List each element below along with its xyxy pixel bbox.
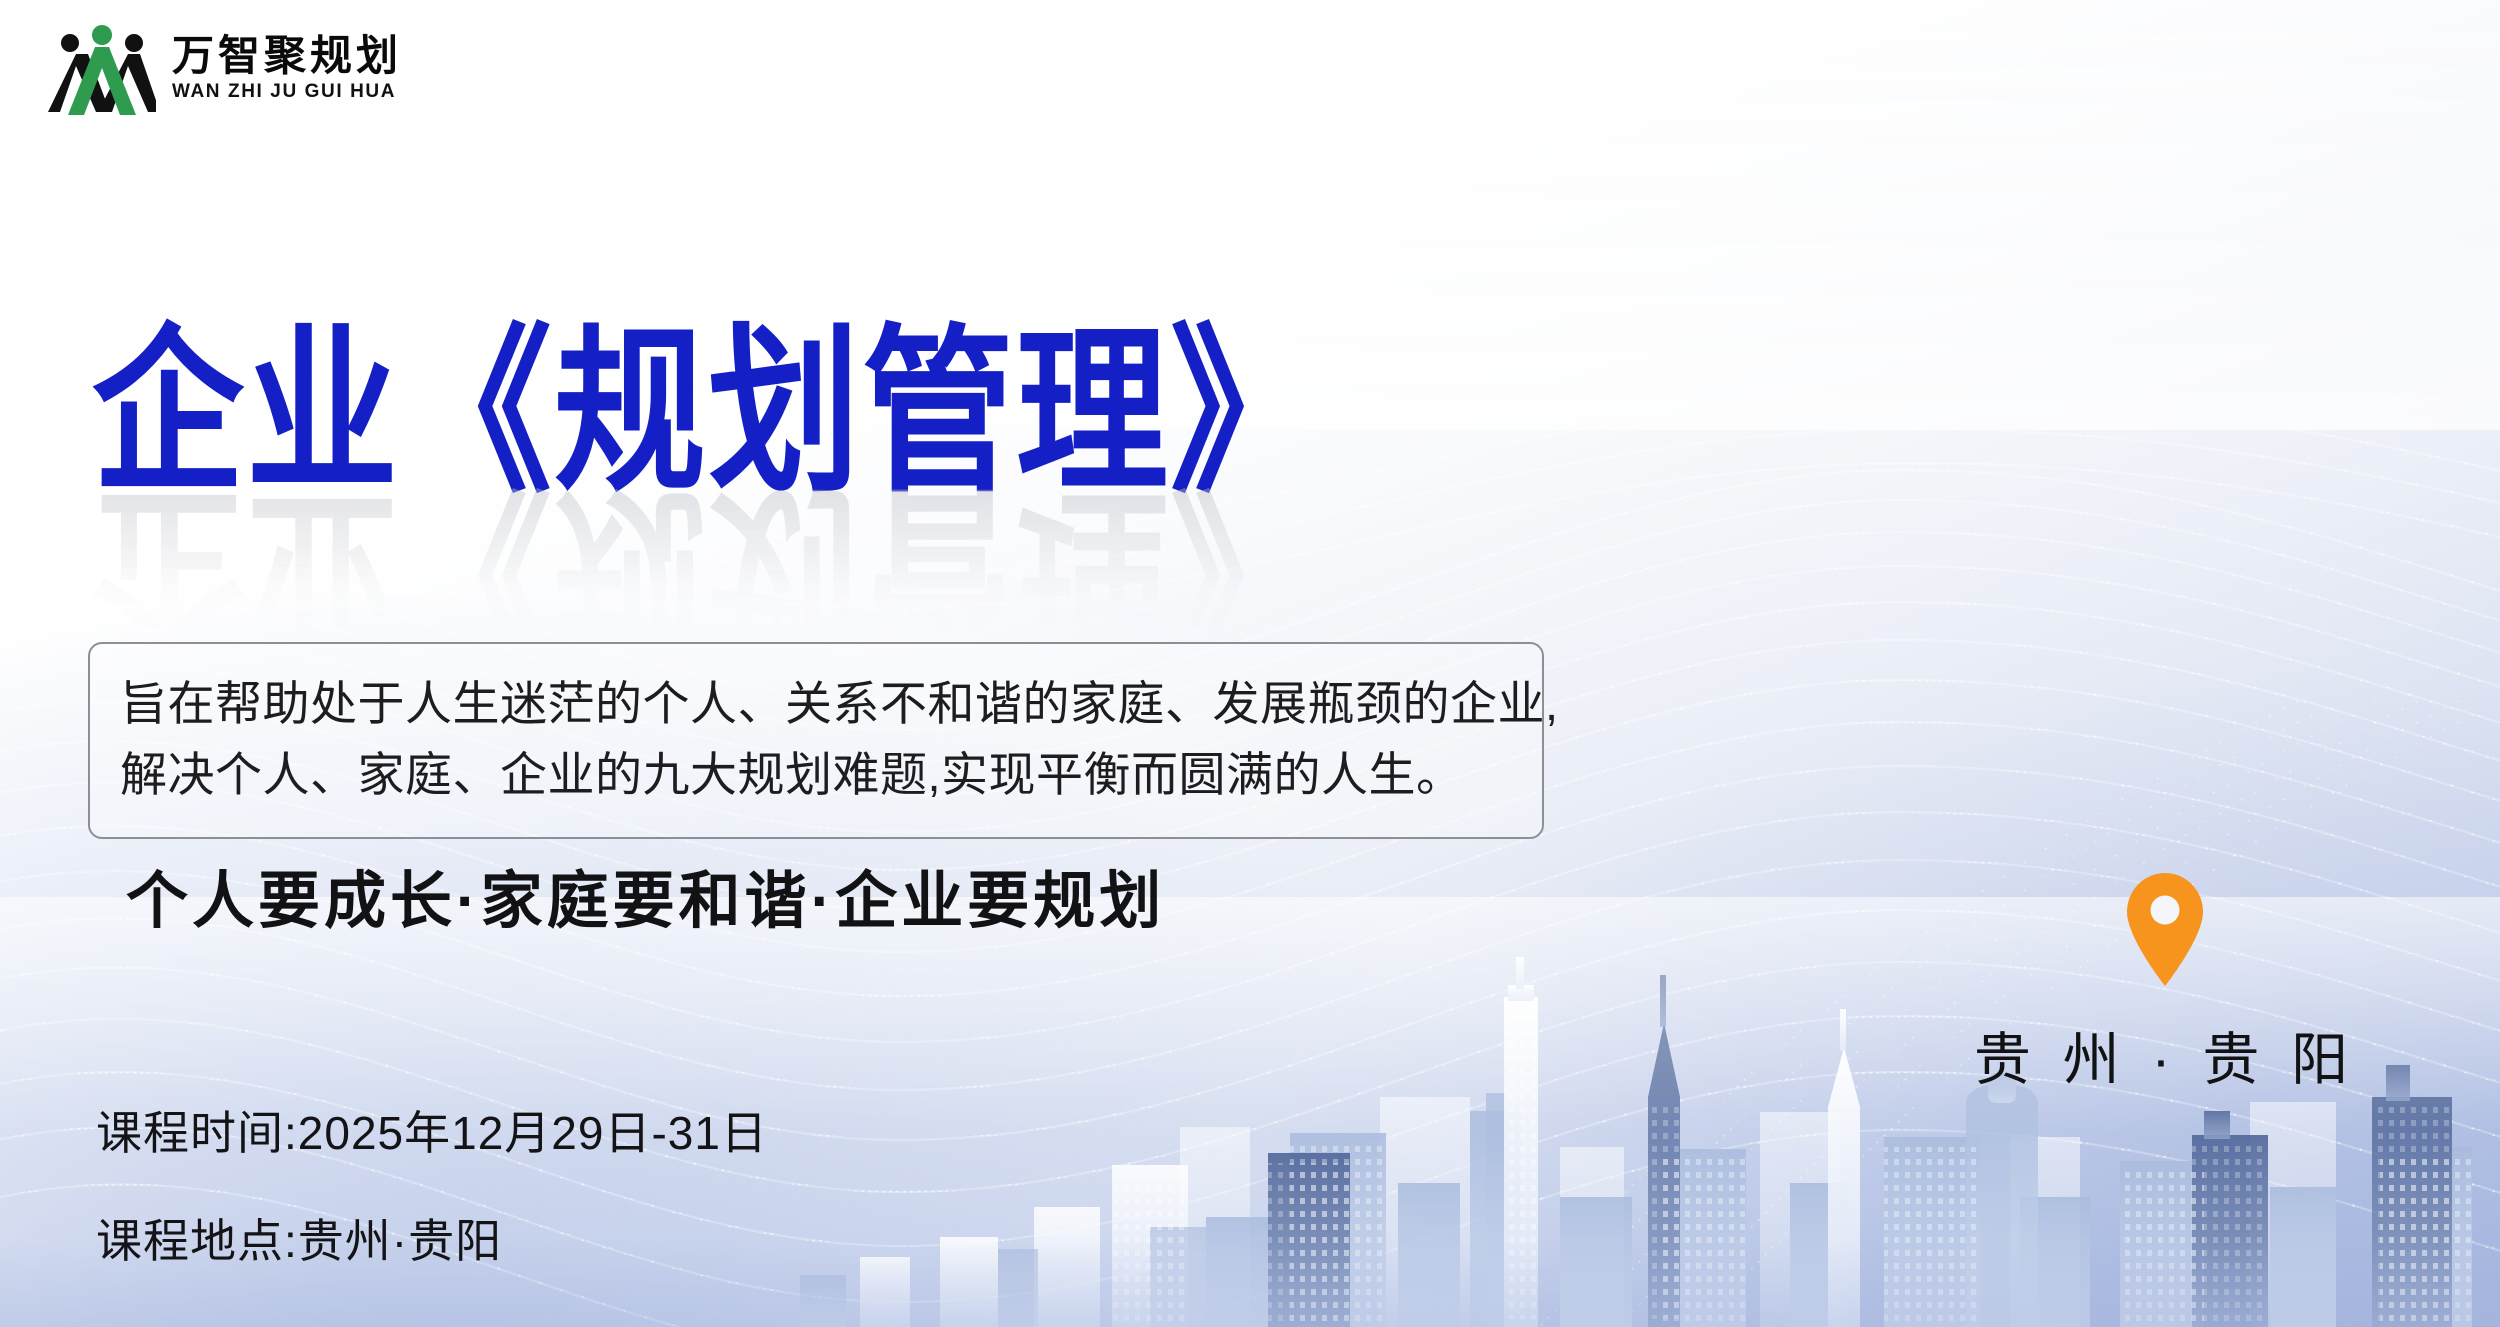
brand-logo: 万智聚规划 WAN ZHI JU GUI HUA — [48, 18, 402, 118]
description-line-1: 旨在帮助处于人生迷茫的个人、关系不和谐的家庭、发展瓶颈的企业, — [120, 668, 1512, 739]
description-line-2: 解决个人、家庭、企业的九大规划难题,实现平衡而圆满的人生。 — [120, 739, 1512, 810]
brand-name-cn: 万智聚规划 — [172, 35, 402, 80]
course-place: 课程地点:贵州·贵阳 — [96, 1218, 768, 1264]
brand-name-en: WAN ZHI JU GUI HUA — [172, 82, 402, 101]
title-reflection: 企业《规划管理》 — [92, 476, 1324, 659]
tagline: 个人要成长·家庭要和谐·企业要规划 — [126, 850, 1165, 940]
location-label: 贵 州 · 贵 阳 — [1955, 1014, 2375, 1096]
course-time: 课程时间:2025年12月29日-31日 — [96, 1110, 768, 1156]
three-people-logo-icon — [48, 18, 156, 118]
map-pin-icon — [2121, 870, 2209, 988]
description-box: 旨在帮助处于人生迷茫的个人、关系不和谐的家庭、发展瓶颈的企业, 解决个人、家庭、… — [88, 642, 1544, 839]
location-block: 贵 州 · 贵 阳 — [1955, 870, 2375, 1096]
course-info: 课程时间:2025年12月29日-31日 课程地点:贵州·贵阳 — [96, 1110, 768, 1264]
promo-poster: 万智聚规划 WAN ZHI JU GUI HUA 企业《规划管理》 企业《规划管… — [0, 0, 2500, 1327]
